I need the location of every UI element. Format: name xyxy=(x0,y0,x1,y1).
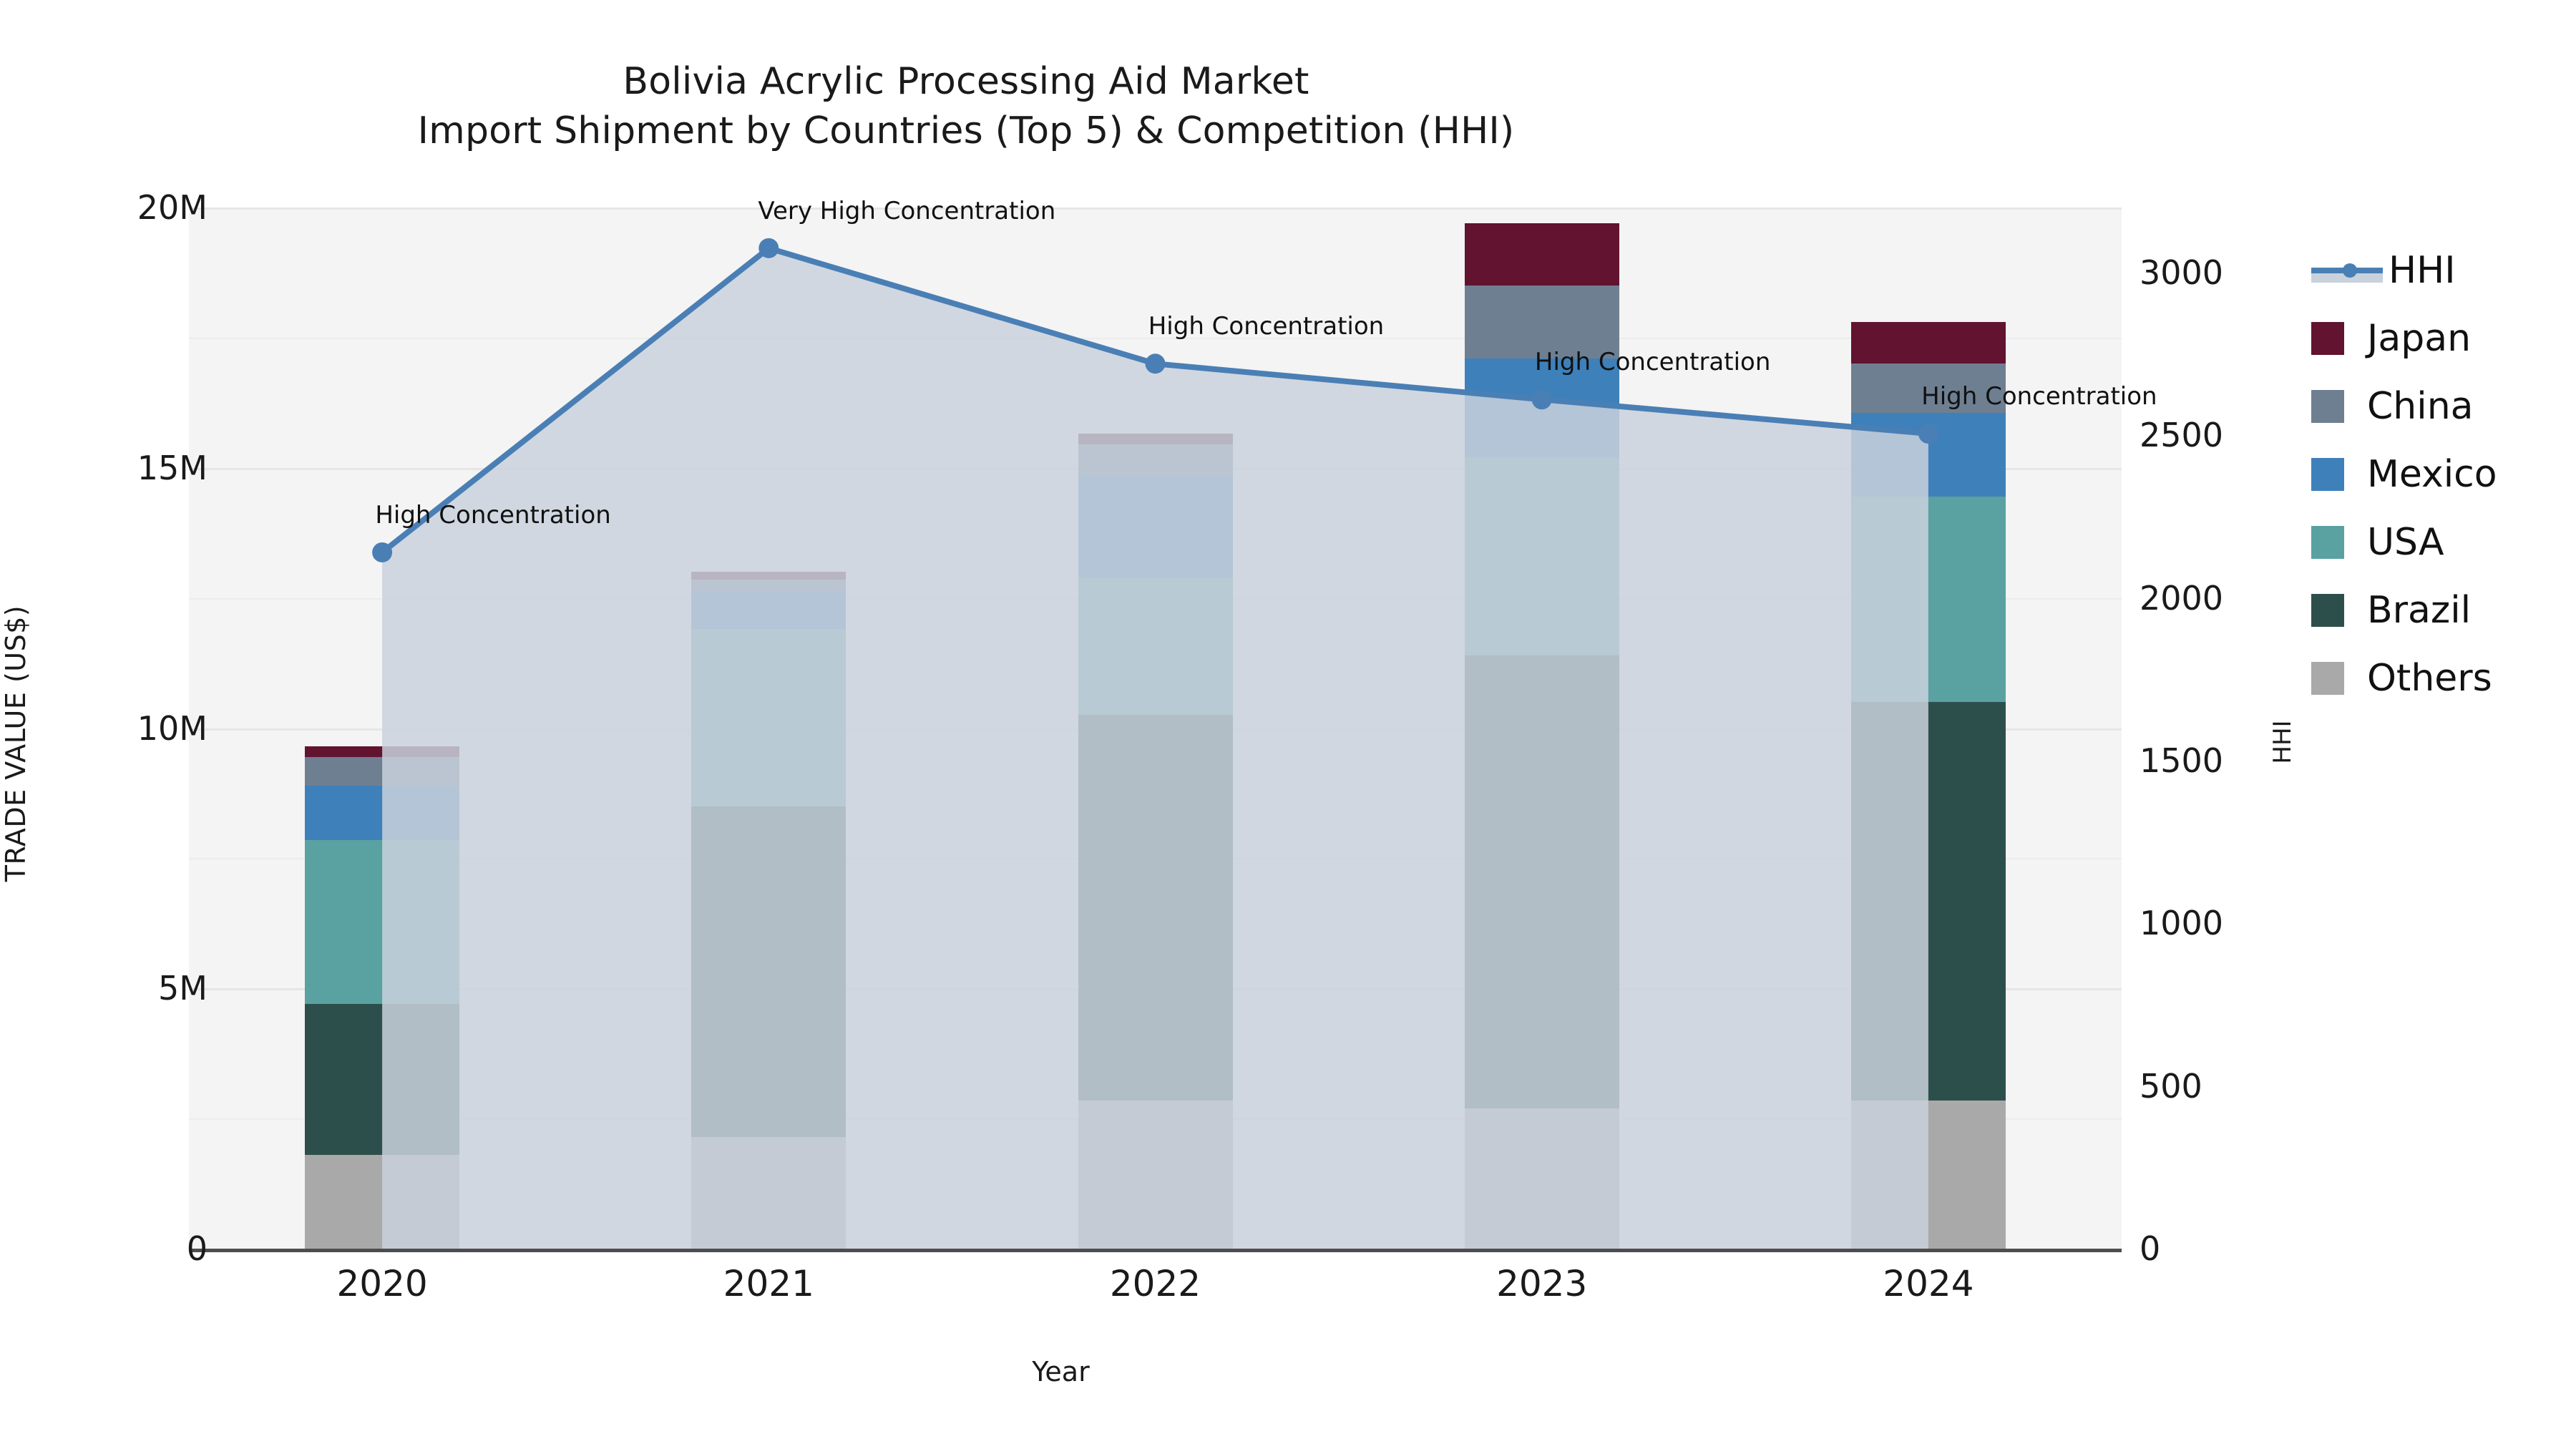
y-tick-left: 20M xyxy=(0,188,208,227)
legend-swatch-icon xyxy=(2311,458,2344,491)
bar-segment-china-2021[interactable] xyxy=(691,580,846,592)
annotation-2021: Very High Concentration xyxy=(758,197,1055,225)
page-title: Bolivia Acrylic Processing Aid Market xyxy=(0,57,1932,107)
bar-segment-others-2021[interactable] xyxy=(691,1137,846,1249)
legend-swatch-icon xyxy=(2311,594,2344,627)
legend-label: Others xyxy=(2367,660,2492,697)
bar-segment-usa-2020[interactable] xyxy=(305,840,459,1004)
x-tick-2021: 2021 xyxy=(625,1263,912,1304)
legend-swatch-icon xyxy=(2311,322,2344,355)
legend: HHIJapanChinaMexicoUSABrazilOthers xyxy=(2311,236,2569,712)
y-tick-right: 0 xyxy=(2140,1229,2354,1268)
legend-label: Brazil xyxy=(2367,592,2471,629)
legend-item-others[interactable]: Others xyxy=(2311,644,2569,712)
legend-line-marker-icon xyxy=(2311,254,2383,287)
y-tick-right: 500 xyxy=(2140,1067,2354,1106)
hhi-marker-2021[interactable] xyxy=(758,238,779,258)
legend-label: Mexico xyxy=(2367,456,2497,493)
chart-subtitle: Import Shipment by Countries (Top 5) & C… xyxy=(0,107,1932,156)
y-tick-left: 0 xyxy=(0,1229,208,1268)
y-tick-right: 1000 xyxy=(2140,904,2354,942)
y-tick-left: 5M xyxy=(0,969,208,1008)
bar-segment-brazil-2022[interactable] xyxy=(1078,715,1233,1100)
gridline xyxy=(189,208,2122,210)
bar-segment-brazil-2021[interactable] xyxy=(691,806,846,1137)
bar-segment-china-2020[interactable] xyxy=(305,757,459,786)
bar-segment-others-2022[interactable] xyxy=(1078,1101,1233,1249)
y-tick-left: 15M xyxy=(0,449,208,487)
bar-segment-mexico-2020[interactable] xyxy=(305,786,459,840)
legend-item-japan[interactable]: Japan xyxy=(2311,304,2569,372)
annotation-2020: High Concentration xyxy=(375,501,610,530)
legend-swatch-icon xyxy=(2311,526,2344,559)
bar-segment-japan-2020[interactable] xyxy=(305,746,459,757)
x-tick-2020: 2020 xyxy=(239,1263,525,1304)
chart-title-block: Bolivia Acrylic Processing Aid Market Im… xyxy=(0,57,1932,155)
legend-label: USA xyxy=(2367,524,2444,561)
bar-segment-mexico-2024[interactable] xyxy=(1851,413,2006,496)
legend-label: China xyxy=(2367,388,2474,425)
bar-segment-brazil-2023[interactable] xyxy=(1465,655,1619,1108)
annotation-2023: High Concentration xyxy=(1535,348,1770,376)
bar-segment-mexico-2022[interactable] xyxy=(1078,476,1233,577)
legend-label: HHI xyxy=(2389,252,2456,289)
bar-segment-usa-2022[interactable] xyxy=(1078,577,1233,716)
x-axis-line xyxy=(189,1249,2122,1252)
bar-segment-japan-2024[interactable] xyxy=(1851,322,2006,364)
x-tick-2024: 2024 xyxy=(1785,1263,2072,1304)
bar-segment-brazil-2020[interactable] xyxy=(305,1004,459,1155)
bar-segment-mexico-2021[interactable] xyxy=(691,592,846,629)
bar-segment-usa-2024[interactable] xyxy=(1851,497,2006,702)
chart-page: Bolivia Acrylic Processing Aid Market Im… xyxy=(0,0,2576,1449)
hhi-marker-2022[interactable] xyxy=(1146,353,1166,374)
legend-item-mexico[interactable]: Mexico xyxy=(2311,440,2569,508)
annotation-2022: High Concentration xyxy=(1148,312,1384,341)
bar-segment-usa-2023[interactable] xyxy=(1465,457,1619,655)
bar-segment-china-2022[interactable] xyxy=(1078,444,1233,476)
bar-segment-japan-2023[interactable] xyxy=(1465,223,1619,286)
legend-swatch-icon xyxy=(2311,390,2344,423)
bar-segment-japan-2021[interactable] xyxy=(691,572,846,580)
bar-segment-others-2020[interactable] xyxy=(305,1155,459,1249)
bar-segment-others-2024[interactable] xyxy=(1851,1101,2006,1249)
legend-item-hhi[interactable]: HHI xyxy=(2311,236,2569,304)
bar-segment-usa-2021[interactable] xyxy=(691,629,846,806)
y-tick-left: 10M xyxy=(0,709,208,748)
x-tick-2023: 2023 xyxy=(1399,1263,1685,1304)
bar-segment-others-2023[interactable] xyxy=(1465,1108,1619,1249)
y-tick-right: 1500 xyxy=(2140,741,2354,780)
legend-item-usa[interactable]: USA xyxy=(2311,508,2569,576)
bar-segment-japan-2022[interactable] xyxy=(1078,434,1233,444)
x-axis-label: Year xyxy=(0,1356,2122,1387)
legend-swatch-icon xyxy=(2311,662,2344,695)
legend-item-brazil[interactable]: Brazil xyxy=(2311,576,2569,644)
legend-item-china[interactable]: China xyxy=(2311,372,2569,440)
legend-label: Japan xyxy=(2367,320,2471,357)
bar-segment-brazil-2024[interactable] xyxy=(1851,702,2006,1101)
annotation-2024: High Concentration xyxy=(1921,382,2157,411)
hhi-marker-2020[interactable] xyxy=(372,542,392,562)
x-tick-2022: 2022 xyxy=(1013,1263,1299,1304)
plot-area: High ConcentrationVery High Concentratio… xyxy=(189,208,2122,1249)
